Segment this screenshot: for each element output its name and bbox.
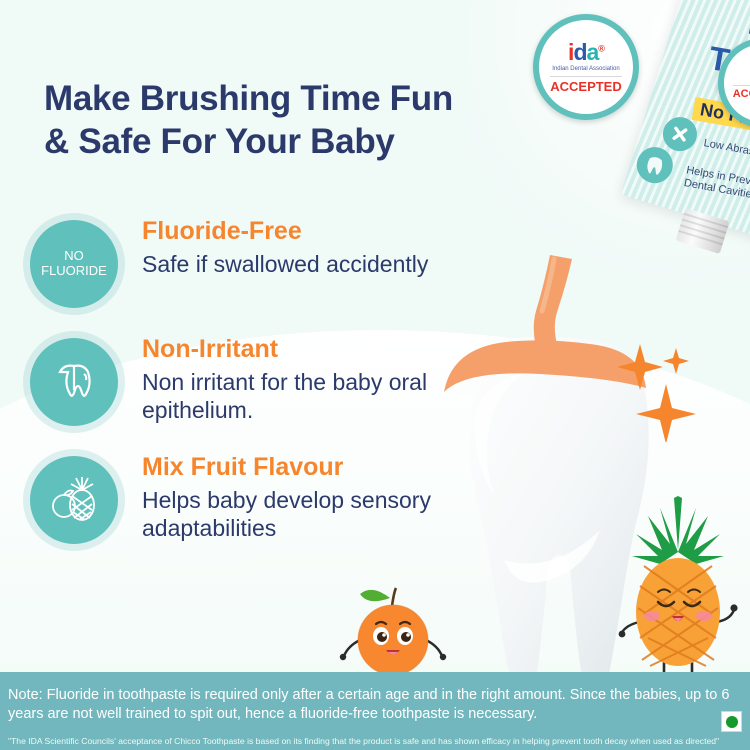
badge-line-1: NO [41,249,107,264]
registered-mark-icon: ® [598,43,604,53]
sparkles-icon [618,332,708,442]
ida-logo: ida® [568,41,604,64]
no-fluoride-badge-text: NO FLUORIDE [41,249,107,279]
ida-accepted-text-secondary: ACCEPTED [733,85,750,100]
ida-logo-letter: a [587,39,599,65]
no-fluoride-badge-icon: NO FLUORIDE [30,220,118,308]
feature-title: Fluoride-Free [142,218,480,246]
pineapple-orange-icon [30,456,118,544]
ida-accepted-text: ACCEPTED [550,76,622,94]
tube-bullet-prevent-cavities: Helps in Preventing Dental Cavities [683,164,750,210]
headline-line-2: & Safe For Your Baby [44,121,564,164]
tube-tooth-seal-icon [634,144,676,186]
page-title: Make Brushing Time Fun & Safe For Your B… [44,78,564,163]
ida-accepted-badge: ida® Indian Dental Association ACCEPTED [533,14,639,120]
poster-canvas: mix fruit Toothpaste Dentifricio No Fluo… [0,0,750,750]
headline-line-1: Make Brushing Time Fun [44,79,453,118]
vegetarian-mark-icon [721,711,742,732]
badge-line-2: FLUORIDE [41,264,107,279]
ida-logo-letter: d [573,39,586,65]
tooth-outline-icon [30,338,118,426]
tube-bullet-low-abrasive: Low Abrasive Formula [703,137,750,168]
feature-description: Safe if swallowed accidently [142,250,480,279]
toothpaste-stream [520,255,590,365]
ida-association-text: Indian Dental Association [552,66,619,72]
note-fine-print: "The IDA Scientific Councils' acceptance… [8,736,724,746]
note-text: Note: Fluoride in toothpaste is required… [8,686,742,724]
pineapple-character [618,490,738,690]
